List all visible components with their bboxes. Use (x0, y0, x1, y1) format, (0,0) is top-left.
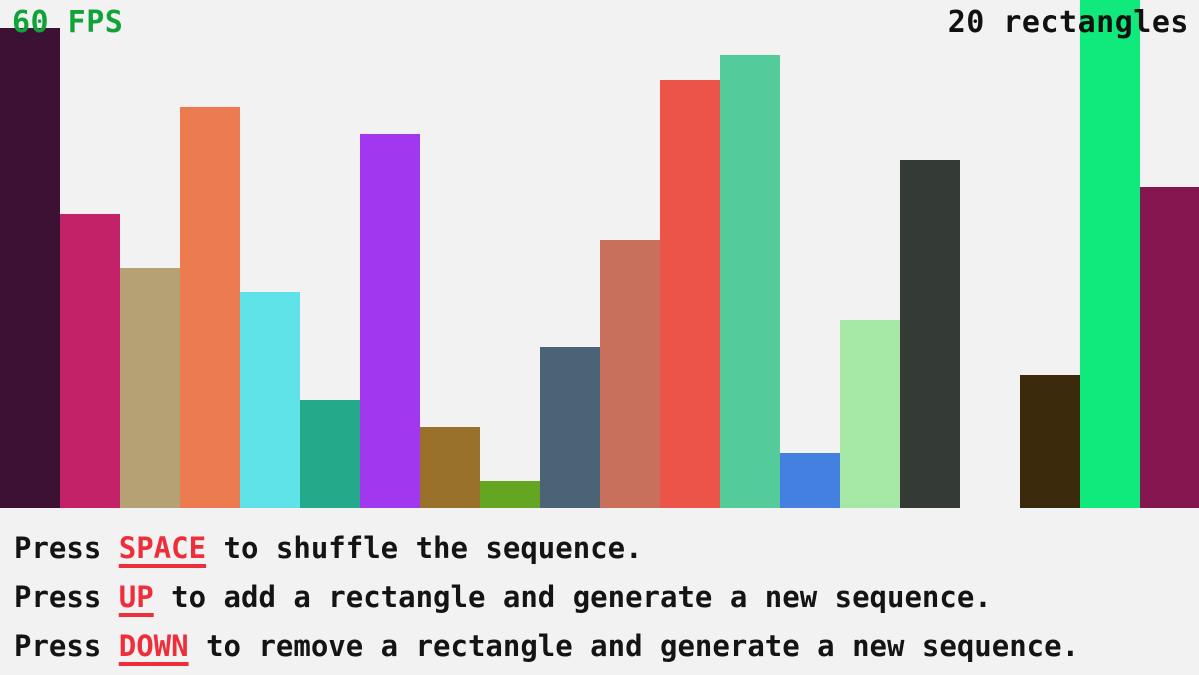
instruction-prefix: Press (14, 531, 119, 565)
bar-orange (180, 107, 240, 508)
bar-purple (360, 134, 420, 508)
key-space[interactable]: SPACE (119, 531, 206, 565)
instruction-line-3: Press DOWN to remove a rectangle and gen… (14, 622, 1199, 671)
fps-counter: 60 FPS (12, 8, 123, 38)
bar-wine (1140, 187, 1199, 508)
bar-terracotta (600, 240, 660, 508)
instruction-prefix: Press (14, 580, 119, 614)
bar-bright-green (1080, 0, 1140, 508)
bar-dark-plum (0, 28, 60, 508)
rectangle-chart (0, 0, 1199, 508)
instruction-suffix: to shuffle the sequence. (206, 531, 643, 565)
instruction-suffix: to remove a rectangle and generate a new… (189, 629, 1079, 663)
bar-dark-brown (1020, 375, 1080, 508)
instruction-suffix: to add a rectangle and generate a new se… (154, 580, 992, 614)
bar-red (660, 80, 720, 508)
bar-slate-blue (540, 347, 600, 508)
instruction-prefix: Press (14, 629, 119, 663)
instruction-line-1: Press SPACE to shuffle the sequence. (14, 524, 1199, 573)
bar-olive-green (480, 481, 540, 508)
key-down[interactable]: DOWN (119, 629, 189, 663)
bar-sea-green (720, 55, 780, 508)
bar-brown (420, 427, 480, 508)
rectangle-count-label: 20 rectangles (948, 8, 1189, 38)
bar-light-green (840, 320, 900, 508)
bar-teal (300, 400, 360, 508)
bar-blue (780, 453, 840, 508)
bar-charcoal (900, 160, 960, 508)
bar-magenta (60, 214, 120, 508)
instruction-line-2: Press UP to add a rectangle and generate… (14, 573, 1199, 622)
instructions-panel: Press SPACE to shuffle the sequence.Pres… (0, 508, 1199, 675)
bar-tan (120, 268, 180, 508)
app-canvas: 60 FPS 20 rectangles Press SPACE to shuf… (0, 0, 1199, 675)
bar-cyan (240, 292, 300, 508)
key-up[interactable]: UP (119, 580, 154, 614)
